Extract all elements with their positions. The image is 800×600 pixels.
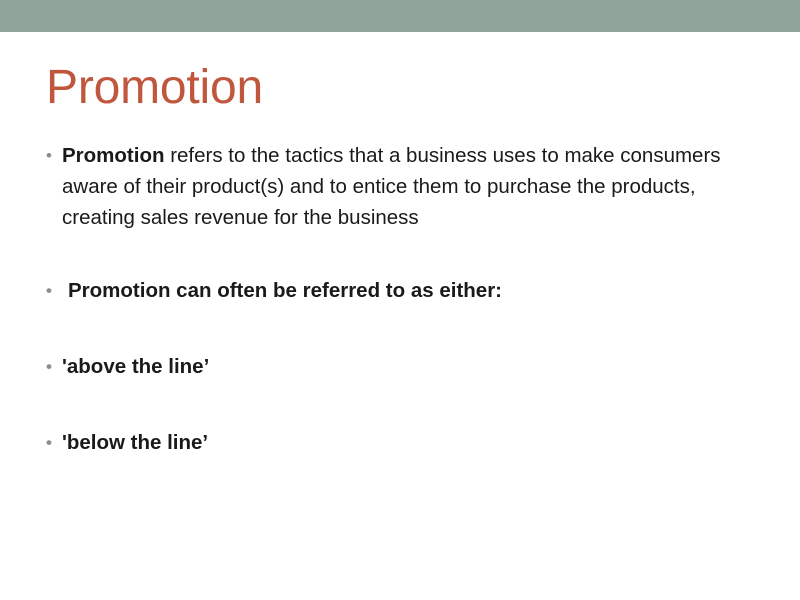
bullet-text-3: 'above the line’ xyxy=(62,351,760,382)
slide-top-banner xyxy=(0,0,800,32)
slide: Promotion • Promotion refers to the tact… xyxy=(0,0,800,600)
list-item: • Promotion can often be referred to as … xyxy=(44,275,760,306)
page-title: Promotion xyxy=(46,62,263,114)
bullet-point-icon: • xyxy=(46,427,60,458)
list-item: • 'above the line’ xyxy=(44,351,760,382)
bullet-text-1: Promotion refers to the tactics that a b… xyxy=(62,140,760,233)
bullet-point-icon: • xyxy=(46,140,60,171)
list-item: • Promotion refers to the tactics that a… xyxy=(44,140,760,233)
slide-body: • Promotion refers to the tactics that a… xyxy=(44,140,760,458)
bullet-point-icon: • xyxy=(46,275,60,306)
bullet-text-2: Promotion can often be referred to as ei… xyxy=(62,275,760,306)
bullet-lead-emphasis: Promotion xyxy=(62,144,165,167)
bullet-point-icon: • xyxy=(46,351,60,382)
list-item: • 'below the line’ xyxy=(44,427,760,458)
bullet-text-4: 'below the line’ xyxy=(62,427,760,458)
